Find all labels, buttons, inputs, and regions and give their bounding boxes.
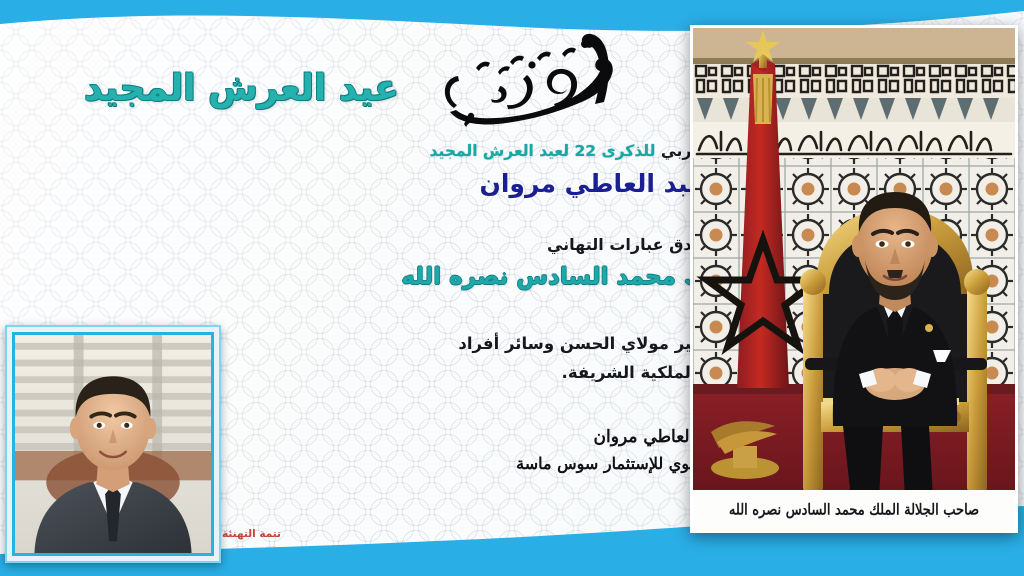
occasion-accent: للذكرى 22 لعيد العرش المجيد (430, 142, 656, 160)
king-portrait-frame: صاحب الجلالة الملك محمد السادس نصره الله (690, 25, 1018, 533)
king-portrait-caption: صاحب الجلالة الملك محمد السادس نصره الله (693, 490, 1015, 530)
director-photo-frame (5, 325, 221, 563)
continuation-note: تتمة التهنئة (222, 528, 281, 540)
king-caption-text: صاحب الجلالة الملك محمد السادس نصره الله (729, 501, 979, 518)
honored-name: عبد العاطي مروان (480, 169, 706, 198)
tahniya-calligraphy (436, 16, 646, 134)
director-photo (12, 332, 214, 556)
page-title: عيد العرش المجيد (0, 68, 399, 109)
greeting-card: عيد العرش المجيد بمناسبة تخليد الشعب الم… (0, 0, 1024, 576)
king-portrait: صاحب الجلالة الملك محمد السادس نصره الله (693, 28, 1015, 530)
